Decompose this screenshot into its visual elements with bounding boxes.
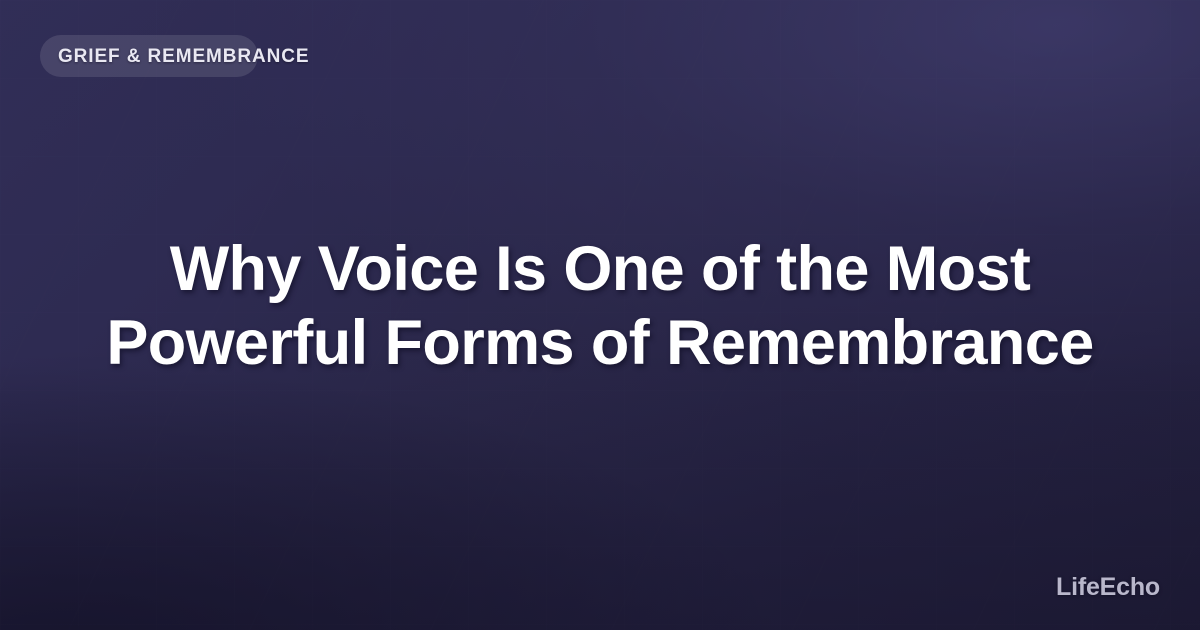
brand-wordmark: LifeEcho: [1056, 575, 1160, 600]
social-share-card: GRIEF & REMEMBRANCE Why Voice Is One of …: [0, 0, 1200, 630]
page-title-line-1: Why Voice Is One of the Most: [60, 232, 1140, 306]
category-badge-label: GRIEF & REMEMBRANCE: [58, 47, 309, 66]
page-title: Why Voice Is One of the Most Powerful Fo…: [0, 232, 1200, 380]
category-badge[interactable]: GRIEF & REMEMBRANCE: [40, 35, 258, 77]
page-title-line-2: Powerful Forms of Remembrance: [60, 306, 1140, 380]
